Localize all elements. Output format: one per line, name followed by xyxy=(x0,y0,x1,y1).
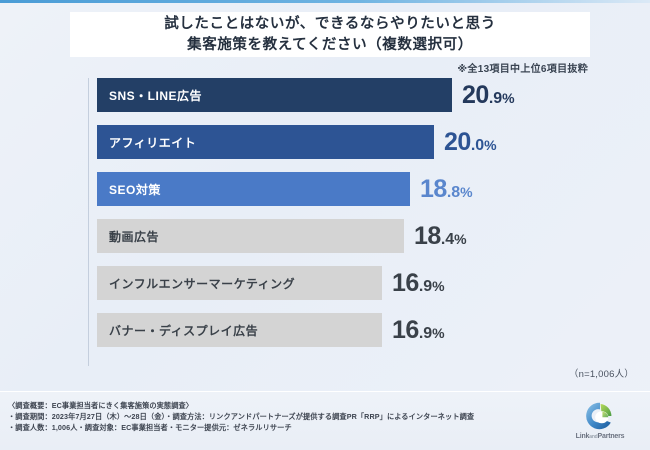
bar-2: アフィリエイト xyxy=(97,125,434,159)
logo-wordmark: LinkandPartners xyxy=(576,433,625,440)
chart-row: アフィリエイト20.0% xyxy=(97,125,497,159)
bar-label: アフィリエイト xyxy=(109,134,196,151)
logo-word-partners: Partners xyxy=(598,433,625,440)
bar-value-decimal: .8 xyxy=(447,184,460,201)
bar-1: SNS・LINE広告 xyxy=(97,78,452,112)
bar-value-integer: 20 xyxy=(462,81,489,109)
bar-value-decimal: .9 xyxy=(489,90,502,107)
bar-3: SEO対策 xyxy=(97,172,410,206)
bar-value-percent-sign: % xyxy=(484,137,496,153)
bar-label: SEO対策 xyxy=(109,181,161,198)
chart-row: 動画広告18.4% xyxy=(97,219,467,253)
footer-line-1: 〈調査概要：EC事業担当者にきく集客施策の実態調査〉 xyxy=(8,401,193,411)
bar-value-integer: 16 xyxy=(392,269,419,297)
bar-value-integer: 16 xyxy=(392,316,419,344)
bar-value: 16.9% xyxy=(392,271,445,296)
bar-value: 16.9% xyxy=(392,318,445,343)
page-title-line-1: 試したことはないが、できるならやりたいと思う xyxy=(164,14,496,35)
logo-word-link: Link xyxy=(576,433,590,440)
bar-label: SNS・LINE広告 xyxy=(109,87,202,104)
sample-size-annotation: （n=1,006人） xyxy=(569,366,634,380)
bar-value-decimal: .9 xyxy=(419,278,432,295)
bar-value: 20.0% xyxy=(444,130,497,155)
logo-word-and: and xyxy=(589,434,597,440)
bar-value-decimal: .0 xyxy=(471,137,484,154)
bar-label: バナー・ディスプレイ広告 xyxy=(109,322,258,339)
bar-5: インフルエンサーマーケティング xyxy=(97,266,382,300)
bar-value-integer: 20 xyxy=(444,128,471,156)
bar-value: 20.9% xyxy=(462,83,515,108)
bar-value: 18.4% xyxy=(414,224,467,249)
top-accent-bar xyxy=(0,0,650,3)
bar-value-percent-sign: % xyxy=(454,231,466,247)
chart-row: インフルエンサーマーケティング16.9% xyxy=(97,266,445,300)
bar-value-percent-sign: % xyxy=(432,278,444,294)
bar-value-percent-sign: % xyxy=(432,325,444,341)
chart-row: SNS・LINE広告20.9% xyxy=(97,78,515,112)
link-and-partners-logo-icon xyxy=(585,401,615,431)
bar-value: 18.8% xyxy=(420,177,473,202)
bar-value-percent-sign: % xyxy=(460,184,472,200)
bar-value-integer: 18 xyxy=(420,175,447,203)
page-title-line-2: 集客施策を教えてください（複数選択可） xyxy=(187,35,473,56)
company-logo: LinkandPartners xyxy=(564,395,636,445)
bar-value-decimal: .9 xyxy=(419,325,432,342)
chart-row: SEO対策18.8% xyxy=(97,172,473,206)
bar-chart: SNS・LINE広告20.9%アフィリエイト20.0%SEO対策18.8%動画広… xyxy=(88,78,588,363)
bar-value-percent-sign: % xyxy=(502,90,514,106)
bar-6: バナー・ディスプレイ広告 xyxy=(97,313,382,347)
bar-4: 動画広告 xyxy=(97,219,404,253)
bar-value-integer: 18 xyxy=(414,222,441,250)
footer-line-3: ・調査人数：1,006人・調査対象：EC事業担当者・モニター提供元：ゼネラルリサ… xyxy=(8,423,292,433)
chart-row: バナー・ディスプレイ広告16.9% xyxy=(97,313,445,347)
chart-title-band: 試したことはないが、できるならやりたいと思う 集客施策を教えてください（複数選択… xyxy=(70,12,590,57)
bar-label: インフルエンサーマーケティング xyxy=(109,275,295,292)
bar-value-decimal: .4 xyxy=(441,231,454,248)
footer-line-2: ・調査期間：2023年7月27日（木）～28日（金）・調査方法：リンクアンドパー… xyxy=(8,412,474,422)
bar-label: 動画広告 xyxy=(109,228,159,245)
title-subnote: ※全13項目中上位6項目抜粋 xyxy=(457,60,588,75)
